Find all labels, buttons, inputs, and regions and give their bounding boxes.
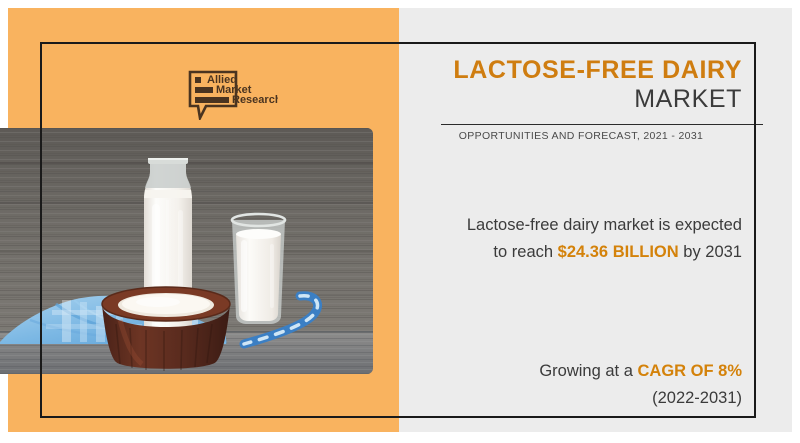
page-subtitle: MARKET <box>430 84 742 114</box>
title-divider <box>441 124 763 125</box>
page-title: LACTOSE-FREE DAIRY <box>430 56 742 84</box>
left-orange-panel: Allied Market Research <box>8 8 399 432</box>
cagr-statement: Growing at a CAGR OF 8% (2022-2031) <box>420 358 742 411</box>
cagr-highlight: CAGR OF 8% <box>637 362 742 380</box>
cagr-period: (2022-2031) <box>652 389 742 407</box>
svg-text:Research: Research <box>232 94 278 106</box>
market-value-highlight: $24.36 BILLION <box>558 243 679 261</box>
right-text-panel: LACTOSE-FREE DAIRY MARKET OPPORTUNITIES … <box>399 8 792 432</box>
infographic-card: Allied Market Research <box>8 8 792 432</box>
stat-line-1: Lactose-free dairy market is expected <box>467 216 742 234</box>
stat-line-2-prefix: to reach <box>493 243 557 261</box>
market-value-statement: Lactose-free dairy market is expected to… <box>420 212 742 266</box>
lactose-free-dairy-products-photo <box>0 128 373 374</box>
forecast-caption: OPPORTUNITIES AND FORECAST, 2021 - 2031 <box>399 130 763 142</box>
cagr-prefix: Growing at a <box>539 362 637 380</box>
title-block: LACTOSE-FREE DAIRY MARKET <box>430 56 742 114</box>
allied-market-research-logo: Allied Market Research <box>186 68 278 120</box>
stat-line-2-suffix: by 2031 <box>679 243 742 261</box>
